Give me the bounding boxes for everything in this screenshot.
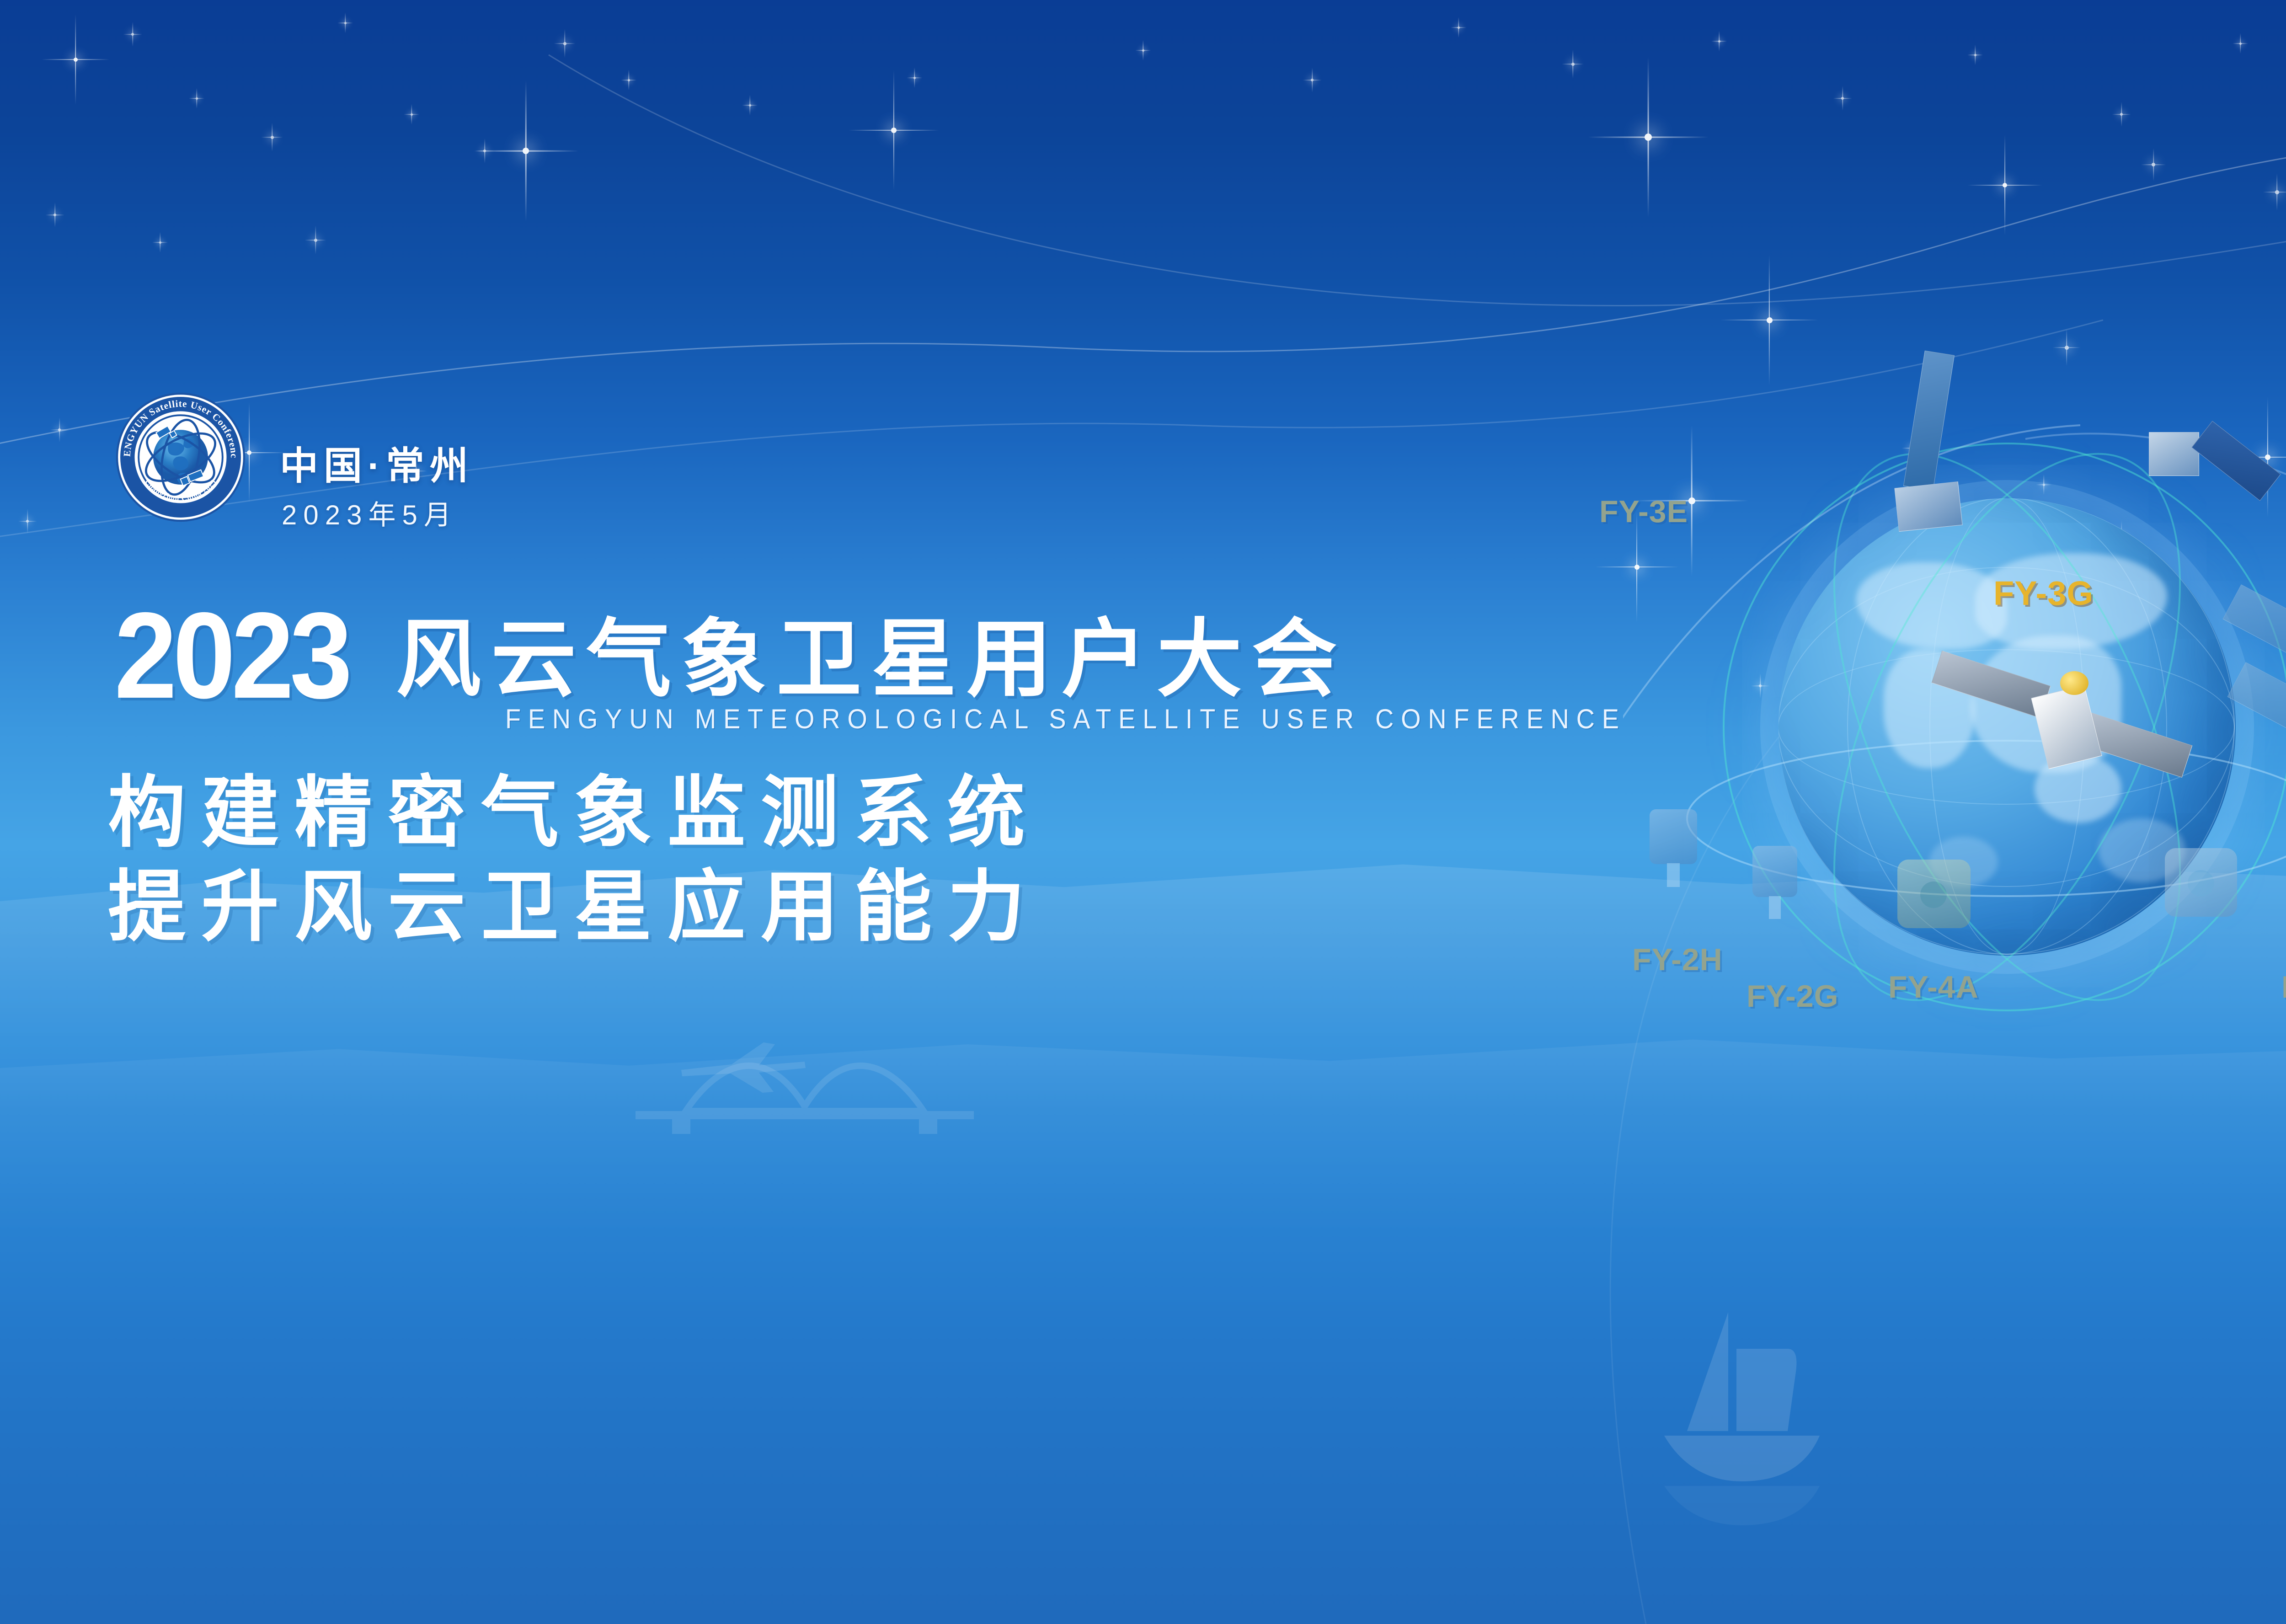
satellite-constellation-scene: FY-3E FY-3C FY-3D FY-3G FY-2H FY-2G FY-4… (1623, 347, 2286, 1125)
satellite-fy3d (2213, 604, 2286, 750)
satellite-fy3e (1870, 352, 1989, 544)
location-label: 中国·常州 (280, 435, 474, 491)
satellite-label-fy2g: FY-2G (1747, 978, 1839, 1014)
sailboat-silhouette (1591, 1298, 1847, 1536)
satellite-label-fy3e: FY-3E (1599, 494, 1688, 529)
satellite-antenna-dish (2060, 671, 2088, 695)
satellite-label-fy4a: FY-4A (1888, 969, 1979, 1005)
satellite-fy4a (1897, 860, 1971, 933)
satellite-fy4b (2165, 848, 2238, 924)
satellite-label-fy3g: FY-3G (1993, 574, 2094, 613)
slogan-line-1: 构建精密气象监测系统 (108, 766, 1041, 860)
main-title: 2023 风云气象卫星用户大会 (114, 605, 1347, 706)
title-english: FENGYUN METEOROLOGICAL SATELLITE USER CO… (505, 703, 1626, 735)
conference-emblem: FENGYUN Satellite User Conference Changz… (114, 386, 247, 528)
satellite-label-fy2h: FY-2H (1632, 942, 1723, 978)
title-chinese: 风云气象卫星用户大会 (396, 617, 1347, 706)
slogan-block: 构建精密气象监测系统 提升风云卫星应用能力 (108, 766, 1041, 954)
satellite-label-fy4b: FY-4B (2281, 969, 2286, 1005)
satellite-fy3c (2149, 418, 2286, 556)
slogan-line-2: 提升风云卫星应用能力 (108, 860, 1041, 955)
conference-poster: FENGYUN Satellite User Conference Changz… (0, 0, 2286, 1624)
date-label: 2023年5月 (282, 493, 458, 533)
satellite-fy2g (1749, 846, 1804, 924)
satellite-fy3g (1925, 622, 2208, 814)
title-year: 2023 (114, 605, 348, 706)
airplane-silhouette (677, 1038, 814, 1093)
satellite-fy2h (1645, 809, 1704, 892)
